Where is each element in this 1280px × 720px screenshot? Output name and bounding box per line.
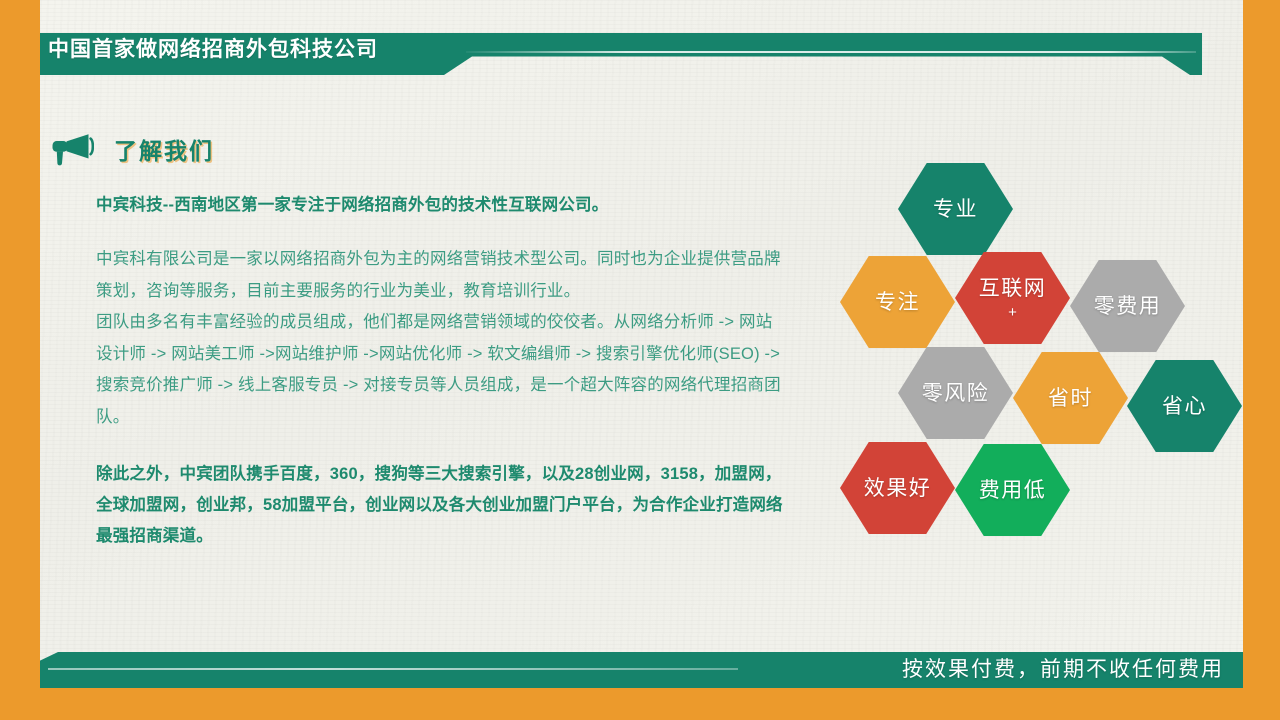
- hexagon-label: 省时: [1048, 386, 1093, 411]
- hexagon-2: 专注: [840, 256, 955, 348]
- hexagon-9: 费用低: [955, 444, 1070, 536]
- megaphone-icon: [48, 132, 94, 166]
- hexagon-3: 互联网+: [955, 252, 1070, 344]
- header-title: 中国首家做网络招商外包科技公司: [48, 36, 378, 64]
- about-copy-block: 中宾科技--西南地区第一家专注于网络招商外包的技术性互联网公司。 中宾科有限公司…: [96, 190, 786, 552]
- footer-divider-line: [48, 668, 738, 670]
- hexagon-7: 省心: [1127, 360, 1242, 452]
- section-heading: 了解我们: [48, 132, 214, 166]
- hexagon-5: 零风险: [898, 347, 1013, 439]
- hexagon-4: 零费用: [1070, 260, 1185, 352]
- copy-outro: 除此之外，中宾团队携手百度，360，搜狗等三大搜索引擎，以及28创业网，3158…: [96, 459, 786, 552]
- hexagon-label: 零风险: [922, 381, 990, 406]
- hexagon-label: 互联网: [979, 276, 1047, 301]
- hexagon-6: 省时: [1013, 352, 1128, 444]
- copy-lead: 中宾科技--西南地区第一家专注于网络招商外包的技术性互联网公司。: [96, 190, 786, 220]
- hexagon-1: 专业: [898, 163, 1013, 255]
- section-title: 了解我们: [114, 132, 214, 166]
- hexagon-label: 效果好: [864, 476, 932, 501]
- hexagon-8: 效果好: [840, 442, 955, 534]
- hexagon-label: 专业: [933, 197, 978, 222]
- footer-tagline: 按效果付费，前期不收任何费用: [902, 654, 1224, 686]
- header-divider-line: [466, 51, 1196, 53]
- hexagon-sublabel: +: [1008, 304, 1017, 321]
- copy-spacer: [96, 433, 786, 459]
- copy-paragraph-2: 团队由多名有丰富经验的成员组成，他们都是网络营销领域的佼佼者。从网络分析师 ->…: [96, 307, 786, 433]
- hexagon-label: 省心: [1162, 394, 1207, 419]
- copy-paragraph-1: 中宾科有限公司是一家以网络招商外包为主的网络营销技术型公司。同时也为企业提供营品…: [96, 244, 786, 307]
- slide-root: 中国首家做网络招商外包科技公司 了解我们 中宾科技--西南地区第一家专注于网络招…: [0, 0, 1280, 720]
- hexagon-cluster: 专业专注互联网+零费用零风险省时省心效果好费用低: [838, 160, 1238, 540]
- hexagon-label: 专注: [875, 290, 920, 315]
- copy-spacer: [96, 220, 786, 244]
- hexagon-label: 零费用: [1094, 294, 1162, 319]
- hexagon-label: 费用低: [979, 478, 1047, 503]
